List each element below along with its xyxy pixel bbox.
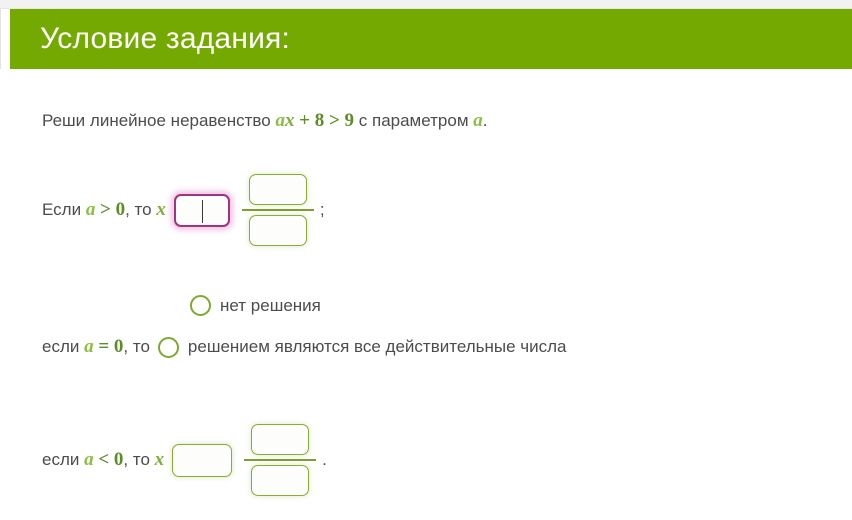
expr-x: x — [285, 110, 295, 131]
expr-greater-than: > — [329, 110, 340, 131]
row-zero-label: если a = 0, то — [42, 336, 150, 358]
row-negative-zero: 0 — [114, 449, 124, 470]
expr-plus: + — [299, 110, 310, 131]
row-zero-suffix: , то — [123, 337, 150, 356]
operator-input-negative[interactable] — [172, 444, 232, 477]
radio-all-reals-label: решением являются все действительные чис… — [188, 337, 567, 357]
page-root: Условие задания: Реши линейное неравенст… — [0, 0, 852, 520]
row-negative-variable: x — [155, 449, 165, 470]
radio-no-solution[interactable] — [190, 295, 211, 316]
statement-period: . — [483, 111, 488, 130]
row-negative-param: a — [84, 449, 94, 470]
fraction-bar — [244, 459, 316, 461]
row-negative-comparator: < — [98, 449, 109, 470]
top-strip — [0, 0, 852, 9]
fraction-positive — [242, 174, 314, 246]
row-negative-tail: . — [322, 450, 327, 470]
expr-a: a — [275, 110, 285, 131]
row-zero-prefix: если — [42, 337, 79, 356]
numerator-input-negative[interactable] — [251, 424, 309, 455]
row-positive-param: a — [86, 199, 96, 220]
radio-all-reals[interactable] — [158, 337, 179, 358]
answer-row-a-positive: Если a > 0, то x ; — [42, 174, 325, 246]
row-positive-label: Если a > 0, то x — [42, 199, 166, 221]
row-zero-param: a — [84, 336, 94, 357]
statement-suffix: с параметром — [359, 111, 469, 130]
row-positive-tail: ; — [320, 200, 325, 220]
row-positive-comparator: > — [100, 199, 111, 220]
fraction-bar — [242, 209, 314, 211]
answer-row-a-zero: если a = 0, то решением являются все дей… — [42, 336, 567, 358]
task-statement: Реши линейное неравенство ax + 8 > 9 с п… — [42, 110, 488, 132]
denominator-input-positive[interactable] — [249, 215, 307, 246]
page-title: Условие задания: — [40, 24, 290, 54]
text-caret — [202, 200, 203, 223]
task-content: Реши линейное неравенство ax + 8 > 9 с п… — [0, 69, 852, 520]
expr-eight: 8 — [315, 110, 325, 131]
row-negative-label: если a < 0, то x — [42, 449, 164, 471]
row-negative-prefix: если — [42, 450, 79, 469]
denominator-input-negative[interactable] — [251, 465, 309, 496]
operator-input-positive[interactable] — [174, 194, 230, 227]
row-zero-comparator: = — [98, 336, 109, 357]
statement-param: a — [473, 110, 483, 131]
radio-no-solution-label: нет решения — [220, 296, 321, 316]
numerator-input-positive[interactable] — [249, 174, 307, 205]
row-positive-variable: x — [156, 199, 166, 220]
task-header-bar: Условие задания: — [10, 9, 852, 69]
row-positive-prefix: Если — [42, 200, 81, 219]
expr-nine: 9 — [345, 110, 355, 131]
statement-prefix: Реши линейное неравенство — [42, 111, 271, 130]
answer-row-a-negative: если a < 0, то x . — [42, 424, 327, 496]
row-positive-zero: 0 — [116, 199, 126, 220]
fraction-negative — [244, 424, 316, 496]
option-row-no-solution[interactable]: нет решения — [190, 295, 321, 316]
row-zero-zero: 0 — [114, 336, 124, 357]
row-positive-suffix: , то — [125, 200, 152, 219]
row-negative-suffix: , то — [123, 450, 150, 469]
